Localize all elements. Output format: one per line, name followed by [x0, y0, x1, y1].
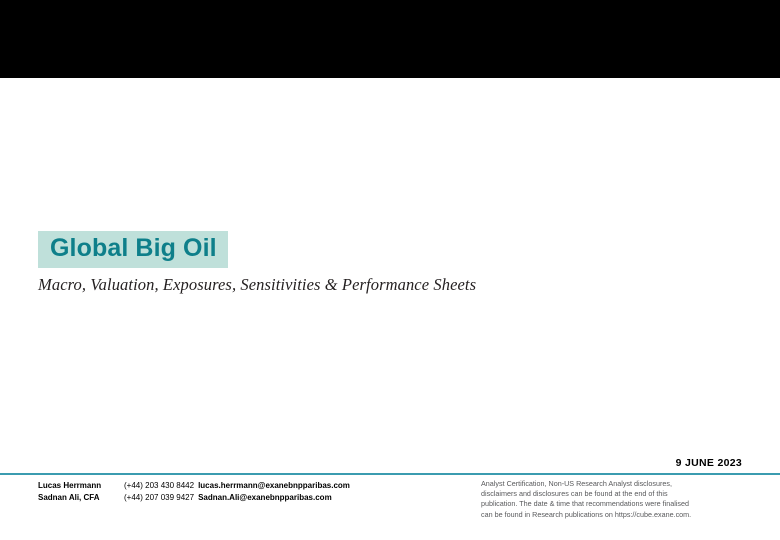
disclaimer-line: publication. The date & time that recomm…: [481, 499, 761, 509]
analyst-email[interactable]: lucas.herrmann@exanebnpparibas.com: [198, 480, 350, 492]
page-subtitle: Macro, Valuation, Exposures, Sensitiviti…: [38, 275, 476, 295]
disclaimer-line: can be found in Research publications on…: [481, 510, 761, 520]
disclaimer-line: disclaimers and disclosures can be found…: [481, 489, 761, 499]
publication-date: 9 JUNE 2023: [676, 457, 742, 469]
analyst-row: Lucas Herrmann (+44) 203 430 8442 lucas.…: [38, 480, 350, 492]
page-title: Global Big Oil: [50, 234, 217, 262]
top-black-banner: [0, 0, 780, 78]
title-highlight-box: Global Big Oil: [38, 231, 228, 268]
analyst-name: Sadnan Ali, CFA: [38, 492, 124, 504]
teal-divider-rule: [0, 473, 780, 475]
cover-slide: Global Big Oil Macro, Valuation, Exposur…: [0, 0, 780, 540]
analyst-email[interactable]: Sadnan.Ali@exanebnpparibas.com: [198, 492, 332, 504]
title-block: Global Big Oil: [38, 231, 228, 268]
disclaimer-text: Analyst Certification, Non-US Research A…: [481, 479, 761, 520]
analyst-name: Lucas Herrmann: [38, 480, 124, 492]
analyst-phone: (+44) 207 039 9427: [124, 492, 194, 504]
analyst-contact-list: Lucas Herrmann (+44) 203 430 8442 lucas.…: [38, 480, 350, 503]
analyst-phone: (+44) 203 430 8442: [124, 480, 194, 492]
analyst-row: Sadnan Ali, CFA (+44) 207 039 9427 Sadna…: [38, 492, 350, 504]
disclaimer-line: Analyst Certification, Non-US Research A…: [481, 479, 761, 489]
